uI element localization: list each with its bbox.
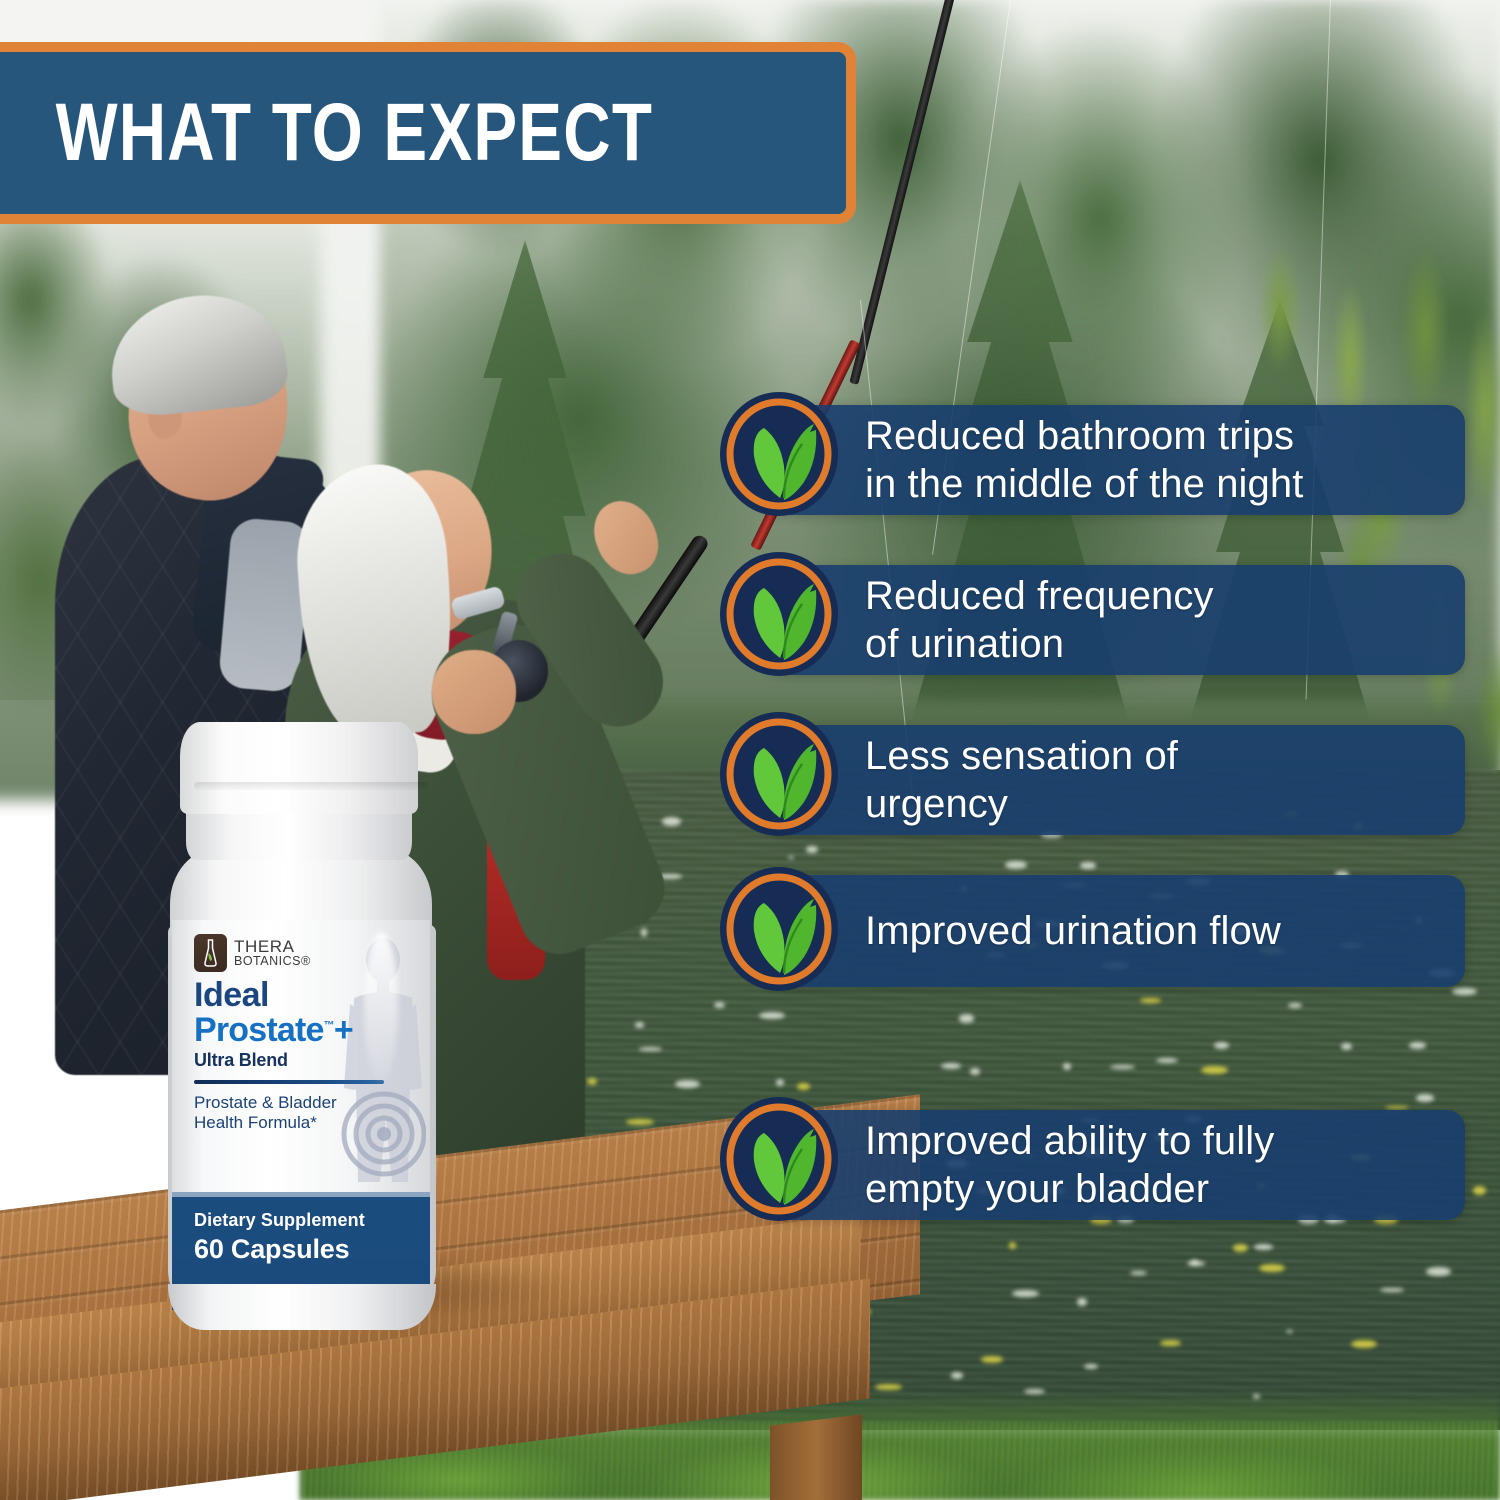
- product-subtitle-line2: Health Formula*: [194, 1113, 424, 1133]
- leaf-badge-icon: [718, 710, 840, 838]
- trademark-symbol: ™: [324, 1020, 334, 1032]
- benefit-pill: Reduced frequency of urination: [765, 565, 1465, 675]
- benefit-pill: Improved ability to fully empty your bla…: [765, 1110, 1465, 1220]
- product-subtitle: Prostate & Bladder Health Formula*: [194, 1093, 424, 1133]
- benefit-text: Reduced frequency of urination: [865, 572, 1214, 668]
- page-title: WHAT TO EXPECT: [0, 86, 653, 180]
- capsule-count-text: 60 Capsules: [194, 1234, 414, 1265]
- benefit-text: Less sensation of urgency: [865, 732, 1178, 828]
- brand-thera: THERA: [234, 938, 311, 955]
- dietary-supplement-text: Dietary Supplement: [194, 1210, 414, 1231]
- product-subtitle-line1: Prostate & Bladder: [194, 1093, 424, 1113]
- benefit-pill: Less sensation of urgency: [765, 725, 1465, 835]
- benefit-text: Improved ability to fully empty your bla…: [865, 1117, 1274, 1213]
- header-banner: WHAT TO EXPECT: [0, 42, 856, 224]
- benefit-pill: Improved urination flow: [765, 875, 1465, 987]
- leaf-badge-icon: [718, 865, 840, 993]
- leaf-badge-icon: [718, 550, 840, 678]
- flask-leaf-icon: [194, 934, 227, 972]
- brand-wordmark: THERA BOTANICS®: [234, 938, 311, 968]
- brand-botanics: BOTANICS®: [234, 955, 311, 968]
- bottle-highlight: [364, 932, 398, 1082]
- bottle-cap: [180, 722, 418, 814]
- dock-support-leg: [770, 1414, 862, 1500]
- product-name-prostate-word: Prostate: [194, 1011, 324, 1049]
- label-divider: [194, 1080, 384, 1084]
- flask-glyph: [203, 939, 218, 967]
- bottle-base: [168, 1284, 436, 1330]
- product-bottle: THERA BOTANICS® Ideal Prostate™+ Ultra B…: [168, 722, 530, 1322]
- cap-ridge: [194, 782, 428, 790]
- plus-symbol: +: [334, 1011, 353, 1049]
- bottle-neck: [186, 808, 412, 860]
- leaf-badge-icon: [718, 390, 840, 518]
- marketing-image: THERA BOTANICS® Ideal Prostate™+ Ultra B…: [0, 0, 1500, 1500]
- benefits-list: Reduced bathroom trips in the middle of …: [700, 380, 1500, 1300]
- benefit-pill: Reduced bathroom trips in the middle of …: [765, 405, 1465, 515]
- benefit-text: Improved urination flow: [865, 907, 1281, 955]
- benefit-text: Reduced bathroom trips in the middle of …: [865, 412, 1303, 508]
- leaf-badge-icon: [718, 1095, 840, 1223]
